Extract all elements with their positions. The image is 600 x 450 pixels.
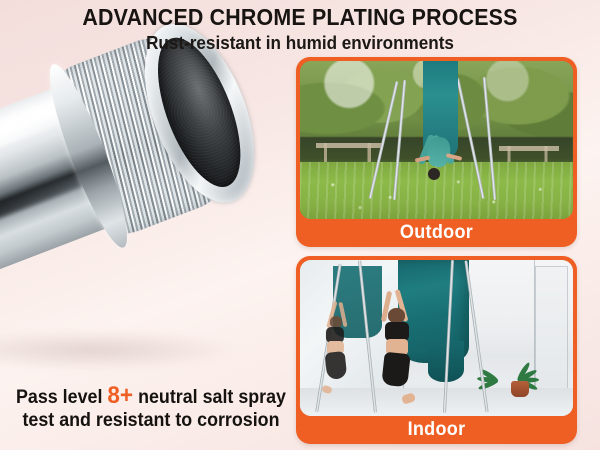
card-caption-outdoor: Outdoor <box>303 219 570 247</box>
indoor-photo <box>300 260 573 416</box>
person-head <box>428 168 440 180</box>
plant-pot <box>511 381 530 397</box>
photo-card-outdoor: Outdoor <box>296 57 577 247</box>
indoor-person-reflection <box>314 310 355 388</box>
claim-line2: test and resistant to corrosion <box>22 410 279 431</box>
indoor-person <box>371 301 426 398</box>
claim-line1-before: Pass level <box>16 387 107 408</box>
claim-line1-after: neutral salt spray <box>133 387 286 408</box>
page-title: ADVANCED CHROME PLATING PROCESS <box>21 4 579 31</box>
claim-highlight-level: 8+ <box>107 382 133 409</box>
person-leggings <box>325 351 347 379</box>
indoor-potted-plant <box>497 344 543 397</box>
outdoor-photo <box>300 61 573 219</box>
photo-card-indoor: Indoor <box>296 256 577 444</box>
salt-spray-claim: Pass level 8+ neutral salt spray test an… <box>15 384 288 432</box>
card-caption-indoor: Indoor <box>303 416 570 444</box>
promo-banner: ADVANCED CHROME PLATING PROCESS Rust-res… <box>0 0 600 450</box>
page-subtitle: Rust-resistant in humid environments <box>15 33 585 54</box>
person-head <box>388 308 404 323</box>
person-head <box>329 316 341 328</box>
outdoor-person <box>412 137 467 191</box>
person-leggings <box>381 351 410 386</box>
pipe-drop-shadow <box>0 330 240 370</box>
